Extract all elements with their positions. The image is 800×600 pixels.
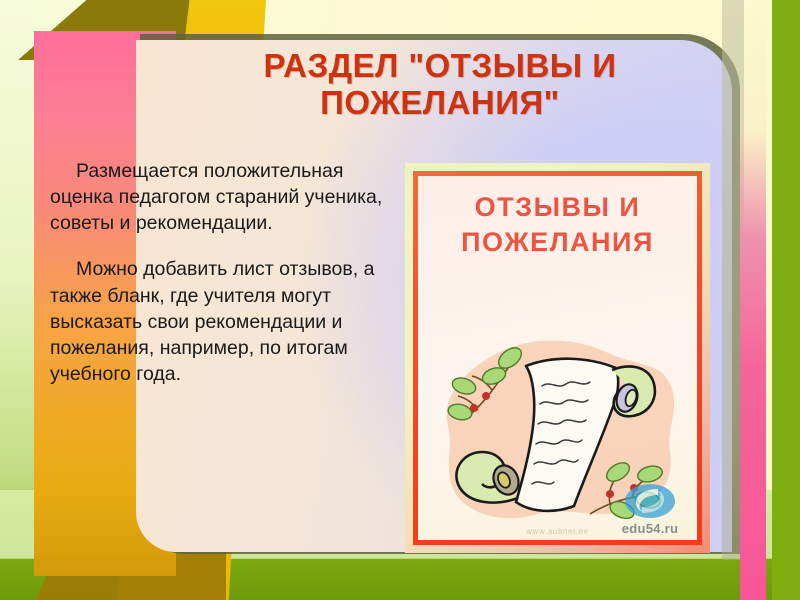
edu54-logo: edu54.ru bbox=[609, 482, 691, 536]
presentation-slide: РАЗДЕЛ "ОТЗЫВЫ И ПОЖЕЛАНИЯ" Размещается … bbox=[0, 0, 800, 600]
body-paragraph-1: Размещается положительная оценка педагог… bbox=[50, 158, 410, 236]
poster-heading-line-2: ПОЖЕЛАНИЯ bbox=[418, 225, 697, 260]
poster-heading: ОТЗЫВЫ И ПОЖЕЛАНИЯ bbox=[418, 190, 697, 259]
poster-canvas: ОТЗЫВЫ И ПОЖЕЛАНИЯ bbox=[418, 176, 697, 540]
logo-label: edu54.ru bbox=[609, 521, 691, 536]
slide-body: Размещается положительная оценка педагог… bbox=[50, 158, 410, 387]
swirl-logo-icon bbox=[624, 482, 676, 520]
right-pink-bar bbox=[740, 0, 766, 600]
poster-red-frame: ОТЗЫВЫ И ПОЖЕЛАНИЯ bbox=[413, 171, 702, 545]
poster-outer-border: ОТЗЫВЫ И ПОЖЕЛАНИЯ bbox=[405, 163, 710, 553]
poster-image: ОТЗЫВЫ И ПОЖЕЛАНИЯ bbox=[405, 163, 710, 553]
poster-heading-line-1: ОТЗЫВЫ И bbox=[418, 190, 697, 225]
right-green-strip bbox=[772, 0, 800, 600]
slide-title: РАЗДЕЛ "ОТЗЫВЫ И ПОЖЕЛАНИЯ" bbox=[150, 48, 730, 122]
body-paragraph-2: Можно добавить лист отзывов, а также бла… bbox=[50, 256, 410, 387]
